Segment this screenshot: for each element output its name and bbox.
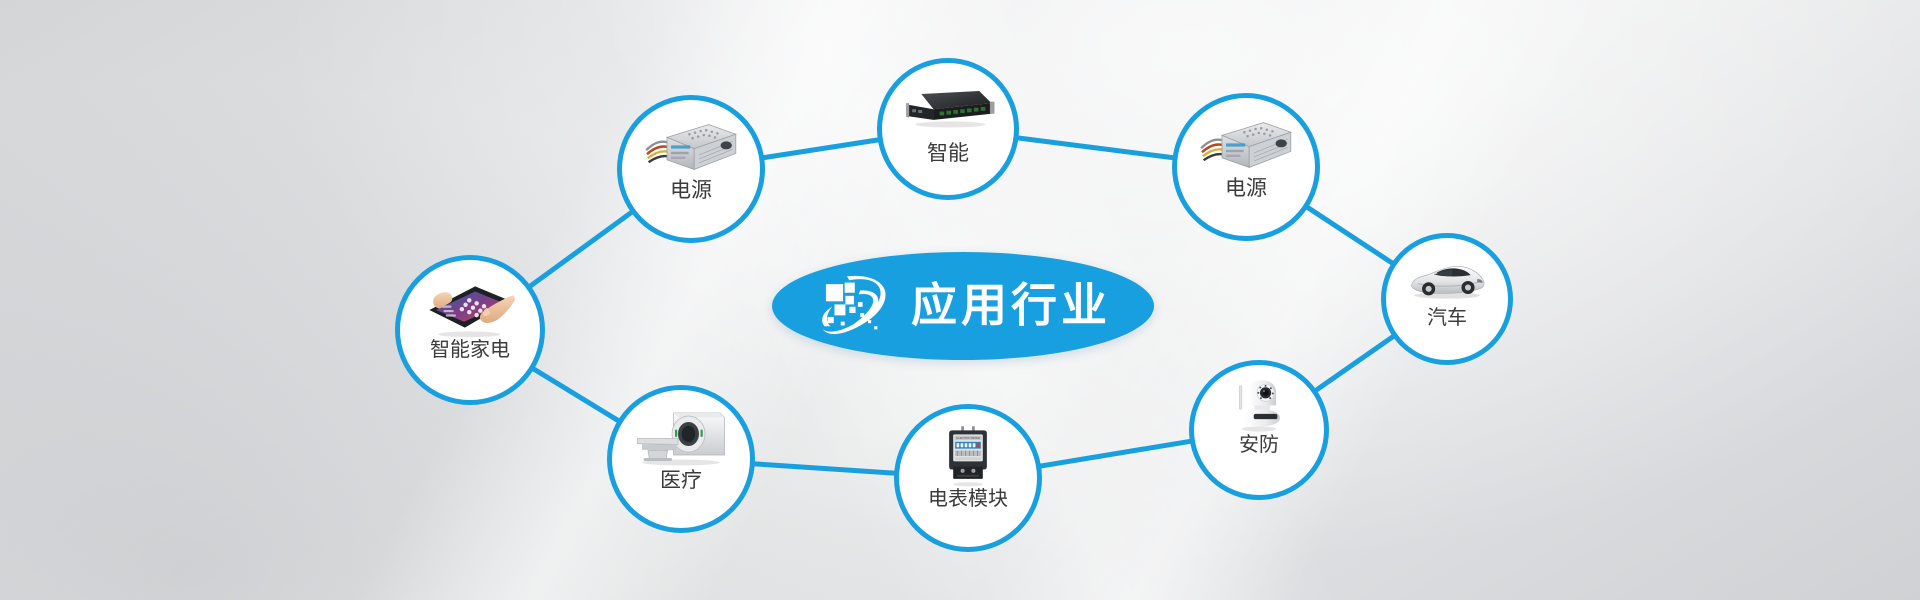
rack-server-icon xyxy=(900,79,996,141)
industry-node-label: 电源 xyxy=(670,180,712,202)
electric-meter-icon: ELECTRIC METER xyxy=(920,425,1016,487)
atx-power-supply-icon xyxy=(643,116,739,178)
ct-scanner-icon xyxy=(633,406,729,468)
tablet-touch-icon xyxy=(422,276,518,338)
electric-meter-icon: ELECTRIC METER xyxy=(920,425,1016,487)
industry-node-label: 医疗 xyxy=(660,470,702,492)
svg-text:ELECTRIC METER: ELECTRIC METER xyxy=(957,436,981,440)
industry-node-label: 电源 xyxy=(1225,178,1267,200)
connector-automotive-to-security xyxy=(1315,336,1395,392)
ct-scanner-icon xyxy=(633,406,729,468)
rack-server-icon xyxy=(900,79,996,141)
industry-node-power-supply-right[interactable]: 电源 xyxy=(1172,93,1320,241)
atx-power-supply-icon xyxy=(1198,114,1294,176)
center-badge-label: 应用行业 xyxy=(911,282,1111,330)
atx-power-supply-icon xyxy=(643,116,739,178)
industry-node-label: 电表模块 xyxy=(928,489,1008,510)
connector-meter-module-to-medical xyxy=(753,464,896,473)
ip-camera-icon xyxy=(1217,379,1301,433)
industry-node-security[interactable]: 安防 xyxy=(1189,360,1329,500)
connector-smart-home-appliance-to-power-supply-left xyxy=(529,211,633,287)
sports-car-icon xyxy=(1405,252,1489,306)
industry-node-power-supply-left[interactable]: 电源 xyxy=(617,95,765,243)
industry-node-meter-module[interactable]: ELECTRIC METER 电表模块 xyxy=(894,404,1042,552)
industry-node-label: 汽车 xyxy=(1427,308,1467,329)
orbit-pixel-swoosh-icon xyxy=(815,270,893,342)
connector-security-to-meter-module xyxy=(1039,441,1192,466)
industry-node-automotive[interactable]: 汽车 xyxy=(1381,233,1513,365)
connector-medical-to-smart-home-appliance xyxy=(532,368,619,421)
application-industries-banner: 应用行业 xyxy=(0,0,1920,600)
industry-node-label: 智能 xyxy=(927,143,969,165)
connector-power-supply-left-to-intelligent xyxy=(762,140,880,158)
sports-car-icon xyxy=(1405,252,1489,306)
connector-intelligent-to-power-supply-right xyxy=(1016,138,1174,158)
connector-power-supply-right-to-automotive xyxy=(1306,207,1393,264)
industry-node-label: 安防 xyxy=(1239,435,1279,456)
atx-power-supply-icon xyxy=(1198,114,1294,176)
center-badge: 应用行业 xyxy=(772,252,1154,360)
industry-node-medical[interactable]: 医疗 xyxy=(607,385,755,533)
tablet-touch-icon xyxy=(422,276,518,338)
ip-camera-icon xyxy=(1217,379,1301,433)
industry-node-smart-home-appliance[interactable]: 智能家电 xyxy=(395,255,545,405)
industry-node-intelligent[interactable]: 智能 xyxy=(877,58,1019,200)
industry-node-label: 智能家电 xyxy=(430,340,510,361)
